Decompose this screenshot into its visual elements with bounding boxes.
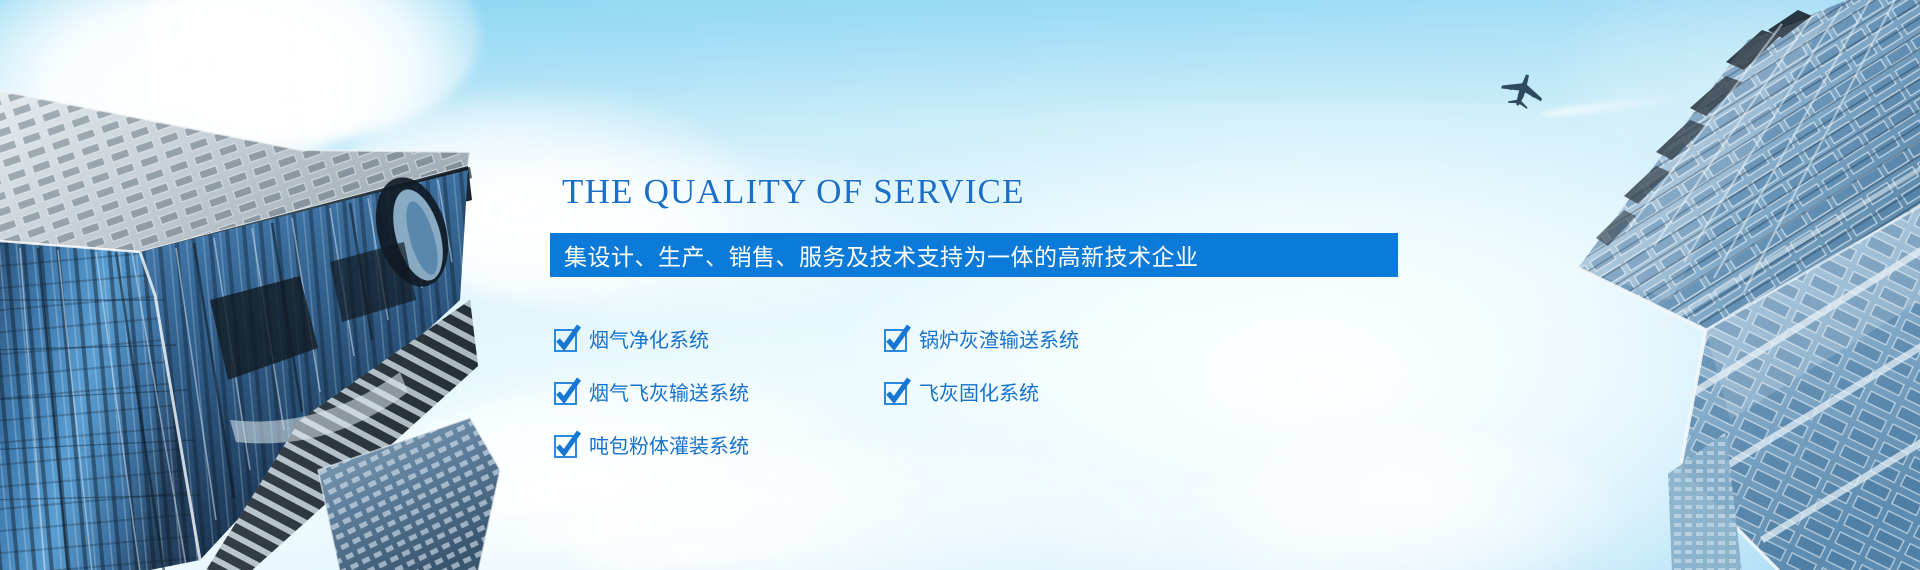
feature-label: 烟气净化系统 (589, 324, 709, 353)
checkbox-checked-icon (554, 328, 576, 350)
left-building-photo (0, 0, 520, 570)
feature-item-4[interactable]: 吨包粉体灌装系统 (554, 418, 884, 471)
feature-item-1[interactable]: 锅炉灰渣输送系统 (884, 312, 1174, 365)
checkbox-checked-icon (554, 381, 576, 403)
hero-banner: THE QUALITY OF SERVICE 集设计、生产、销售、服务及技术支持… (0, 0, 1920, 570)
feature-label: 飞灰固化系统 (919, 377, 1039, 406)
feature-item-2[interactable]: 烟气飞灰输送系统 (554, 365, 884, 418)
page-title: THE QUALITY OF SERVICE (562, 172, 1025, 212)
checkbox-checked-icon (884, 381, 906, 403)
feature-label: 烟气飞灰输送系统 (589, 377, 749, 406)
feature-item-0[interactable]: 烟气净化系统 (554, 312, 884, 365)
subtitle-bar: 集设计、生产、销售、服务及技术支持为一体的高新技术企业 (550, 233, 1398, 277)
feature-label: 锅炉灰渣输送系统 (919, 324, 1079, 353)
feature-list: 烟气净化系统 锅炉灰渣输送系统 烟气飞灰输送 (554, 312, 1174, 471)
checkbox-checked-icon (554, 434, 576, 456)
subtitle-bar-text: 集设计、生产、销售、服务及技术支持为一体的高新技术企业 (550, 238, 1199, 272)
feature-label: 吨包粉体灌装系统 (589, 430, 749, 459)
right-building-photo (1530, 0, 1920, 570)
checkbox-checked-icon (884, 328, 906, 350)
feature-item-3[interactable]: 飞灰固化系统 (884, 365, 1174, 418)
hero-content: THE QUALITY OF SERVICE 集设计、生产、销售、服务及技术支持… (550, 0, 1450, 570)
